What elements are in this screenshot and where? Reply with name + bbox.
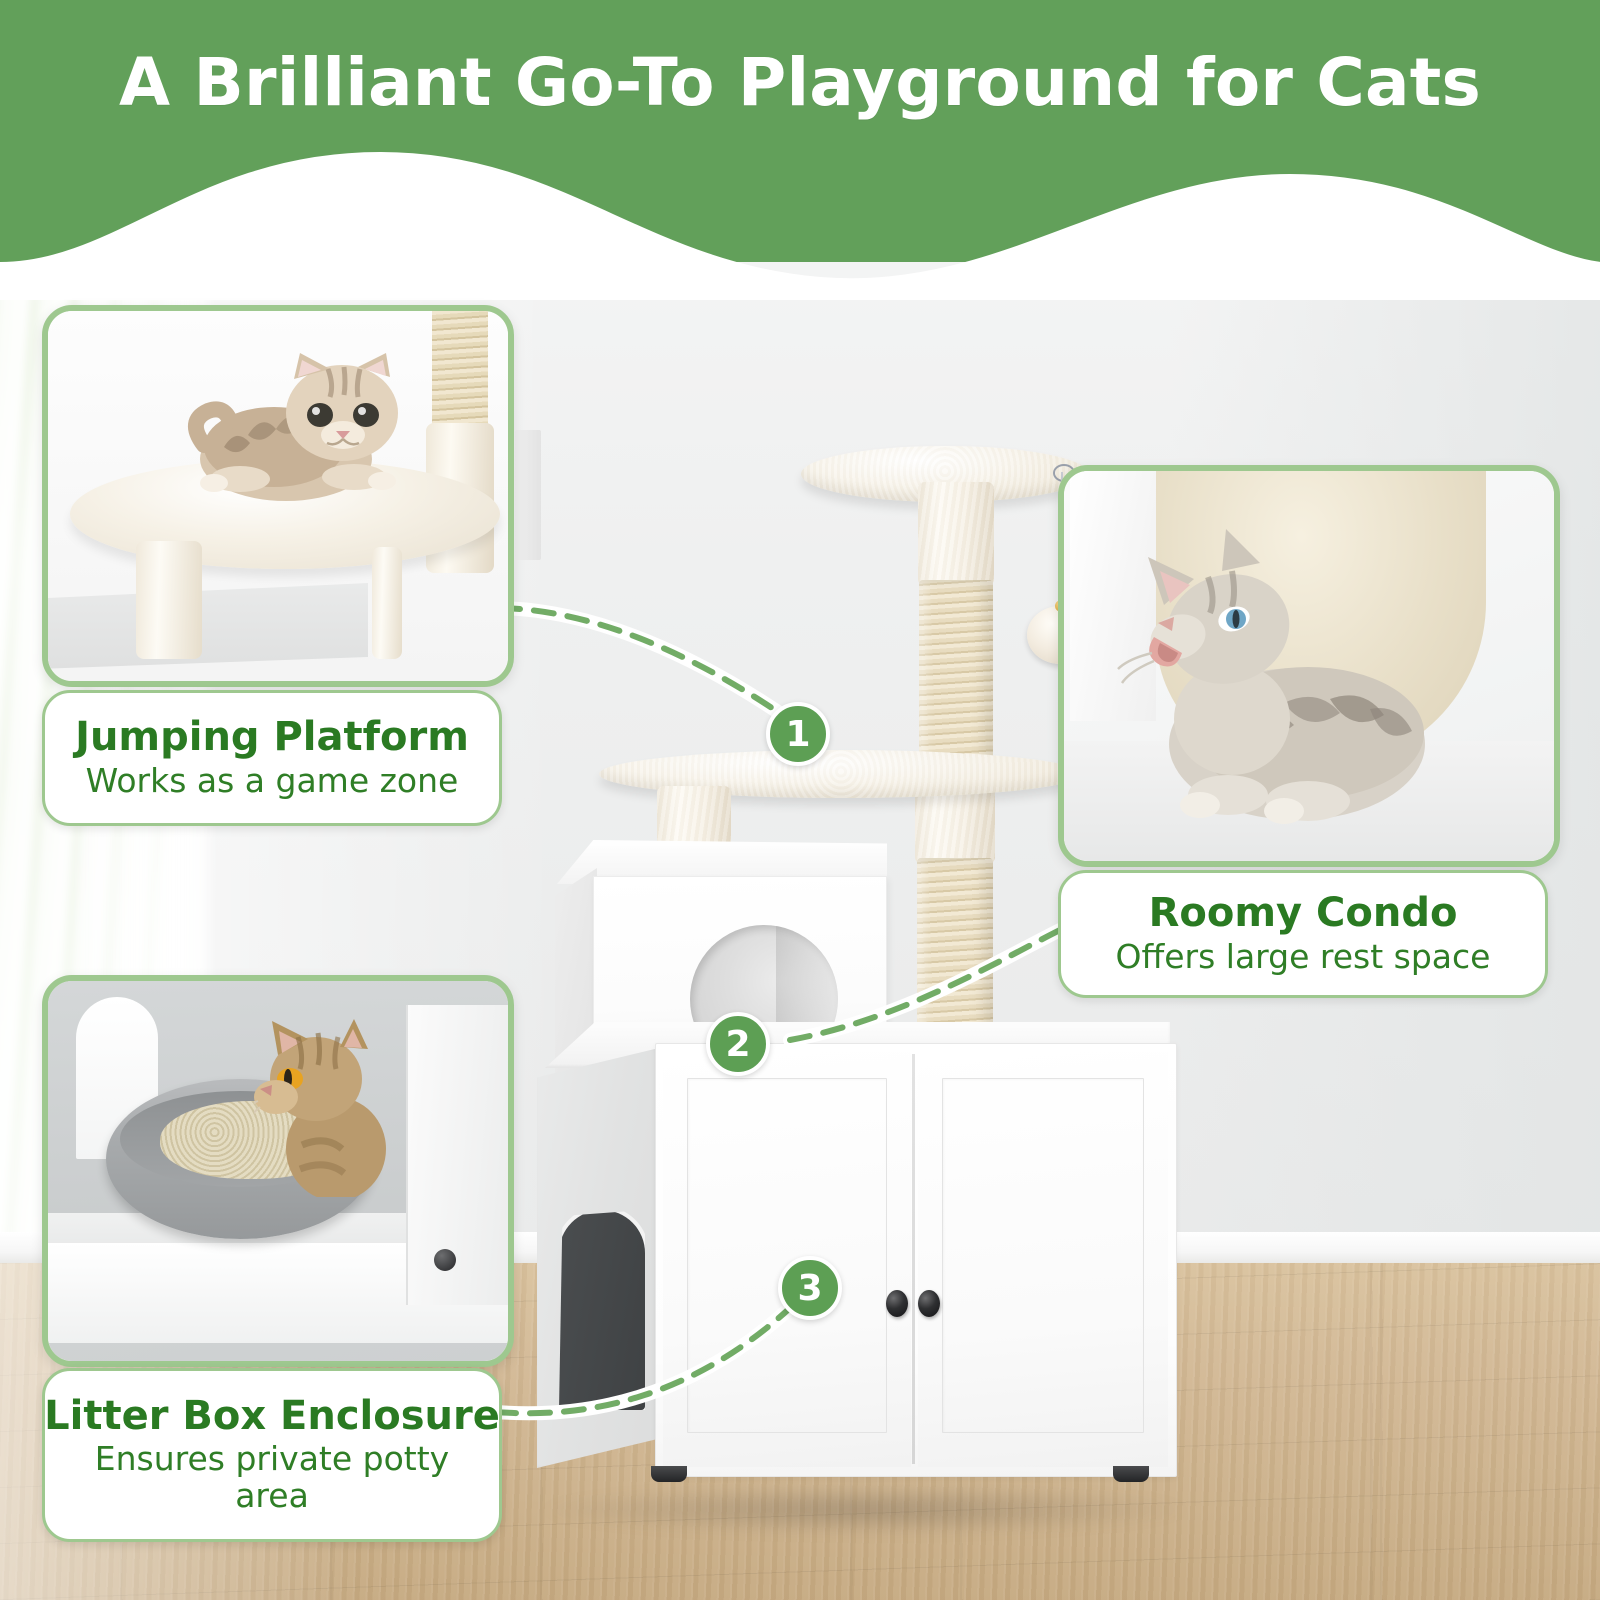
photo1-platform-leg-b <box>372 547 402 659</box>
infographic-canvas: A Brilliant Go-To Playground for Cats 1 … <box>0 0 1600 1600</box>
feature-label-1: Jumping Platform Works as a game zone <box>42 690 502 826</box>
post-plush-upper <box>918 482 994 586</box>
photo3-open-door <box>406 1005 508 1305</box>
photo1-platform-leg-a <box>136 541 202 659</box>
product-floor-shadow <box>535 1485 1195 1535</box>
feature-marker-3[interactable]: 3 <box>778 1256 842 1320</box>
sitting-cat-illustration <box>254 1017 394 1197</box>
door-panel-inset-right <box>942 1078 1144 1433</box>
cat-illustration <box>1112 519 1442 829</box>
cabinet-knob-left[interactable] <box>886 1290 908 1317</box>
cabinet-caster-right <box>1113 1466 1149 1482</box>
middle-platform-support <box>515 430 541 560</box>
cabinet-knob-right[interactable] <box>918 1290 940 1317</box>
feature-subtitle-3: Ensures private potty area <box>59 1441 485 1515</box>
feature-marker-2[interactable]: 2 <box>706 1012 770 1076</box>
door-seam <box>912 1054 915 1464</box>
feature-label-3: Litter Box Enclosure Ensures private pot… <box>42 1368 502 1542</box>
feature-photo-3[interactable] <box>42 975 514 1367</box>
sisal-post-lower <box>917 858 993 1044</box>
litter-box-cabinet <box>655 1043 1177 1477</box>
feature-photo-2[interactable] <box>1058 465 1560 867</box>
feature-title-2: Roomy Condo <box>1149 892 1458 934</box>
feature-title-3: Litter Box Enclosure <box>44 1395 500 1437</box>
cabinet-door-right[interactable] <box>918 1052 1168 1467</box>
cabinet-door-left[interactable] <box>663 1052 911 1467</box>
side-arch-entrance <box>559 1210 645 1410</box>
feature-subtitle-2: Offers large rest space <box>1116 939 1491 976</box>
kitten-illustration <box>178 351 446 511</box>
feature-marker-1[interactable]: 1 <box>766 702 830 766</box>
door-panel-inset-left <box>687 1078 887 1433</box>
feature-title-1: Jumping Platform <box>75 716 469 758</box>
feature-label-2: Roomy Condo Offers large rest space <box>1058 870 1548 998</box>
page-title: A Brilliant Go-To Playground for Cats <box>0 44 1600 121</box>
sisal-post-upper <box>919 580 993 766</box>
cabinet-caster-left <box>651 1466 687 1482</box>
feature-photo-1[interactable] <box>42 305 514 687</box>
header-banner: A Brilliant Go-To Playground for Cats <box>0 0 1600 262</box>
feature-subtitle-1: Works as a game zone <box>86 763 459 800</box>
photo3-door-knob <box>434 1249 456 1271</box>
